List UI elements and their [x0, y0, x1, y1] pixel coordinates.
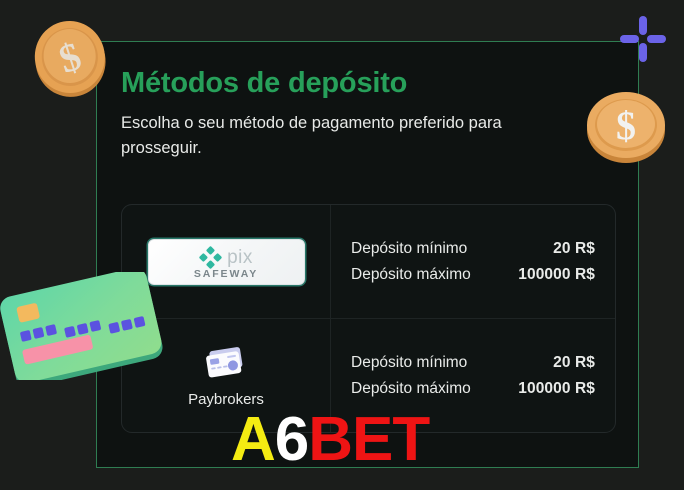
svg-text:$: $ — [54, 33, 87, 82]
credit-cards-icon — [202, 344, 250, 382]
page-subtitle: Escolha o seu método de pagamento prefer… — [121, 111, 561, 160]
pix-logo-tile: pix SAFEWAY — [148, 239, 305, 285]
paybrokers-min-label: Depósito mínimo — [351, 350, 467, 375]
pix-amounts: Depósito mínimo 20 R$ Depósito máximo 10… — [331, 236, 615, 286]
paybrokers-min-value: 20 R$ — [553, 350, 595, 375]
paybrokers-amounts: Depósito mínimo 20 R$ Depósito máximo 10… — [331, 350, 615, 400]
paybrokers-max-deposit: Depósito máximo 100000 R$ — [351, 376, 595, 401]
panel-header: Métodos de depósito Escolha o seu método… — [97, 42, 638, 160]
pix-max-value: 100000 R$ — [518, 262, 595, 287]
payment-method-row-paybrokers[interactable]: Paybrokers Depósito mínimo 20 R$ Depósit… — [122, 318, 615, 432]
pix-diamond-icon — [199, 246, 222, 269]
pix-logo-row: pix — [199, 245, 253, 269]
paybrokers-label: Paybrokers — [188, 391, 264, 408]
page-title: Métodos de depósito — [121, 68, 614, 98]
pix-max-label: Depósito máximo — [351, 262, 471, 287]
pix-safeway-label: SAFEWAY — [194, 268, 258, 280]
paybrokers-brand-cell: Paybrokers — [122, 319, 331, 432]
pix-max-deposit: Depósito máximo 100000 R$ — [351, 262, 595, 287]
paybrokers-max-label: Depósito máximo — [351, 376, 471, 401]
payment-method-row-pix[interactable]: pix SAFEWAY Depósito mínimo 20 R$ Depósi… — [122, 205, 615, 318]
paybrokers-logo-wrap: Paybrokers — [188, 344, 264, 408]
payment-methods-list: pix SAFEWAY Depósito mínimo 20 R$ Depósi… — [121, 204, 616, 433]
paybrokers-max-value: 100000 R$ — [518, 376, 595, 401]
pix-wordmark: pix — [227, 248, 253, 267]
pix-min-deposit: Depósito mínimo 20 R$ — [351, 236, 595, 261]
paybrokers-min-deposit: Depósito mínimo 20 R$ — [351, 350, 595, 375]
deposit-methods-panel: Métodos de depósito Escolha o seu método… — [96, 41, 639, 468]
pix-min-value: 20 R$ — [553, 236, 595, 261]
plus-icon[interactable] — [617, 13, 669, 65]
pix-min-label: Depósito mínimo — [351, 236, 467, 261]
screen: Métodos de depósito Escolha o seu método… — [0, 0, 684, 490]
pix-brand-cell: pix SAFEWAY — [122, 205, 331, 318]
